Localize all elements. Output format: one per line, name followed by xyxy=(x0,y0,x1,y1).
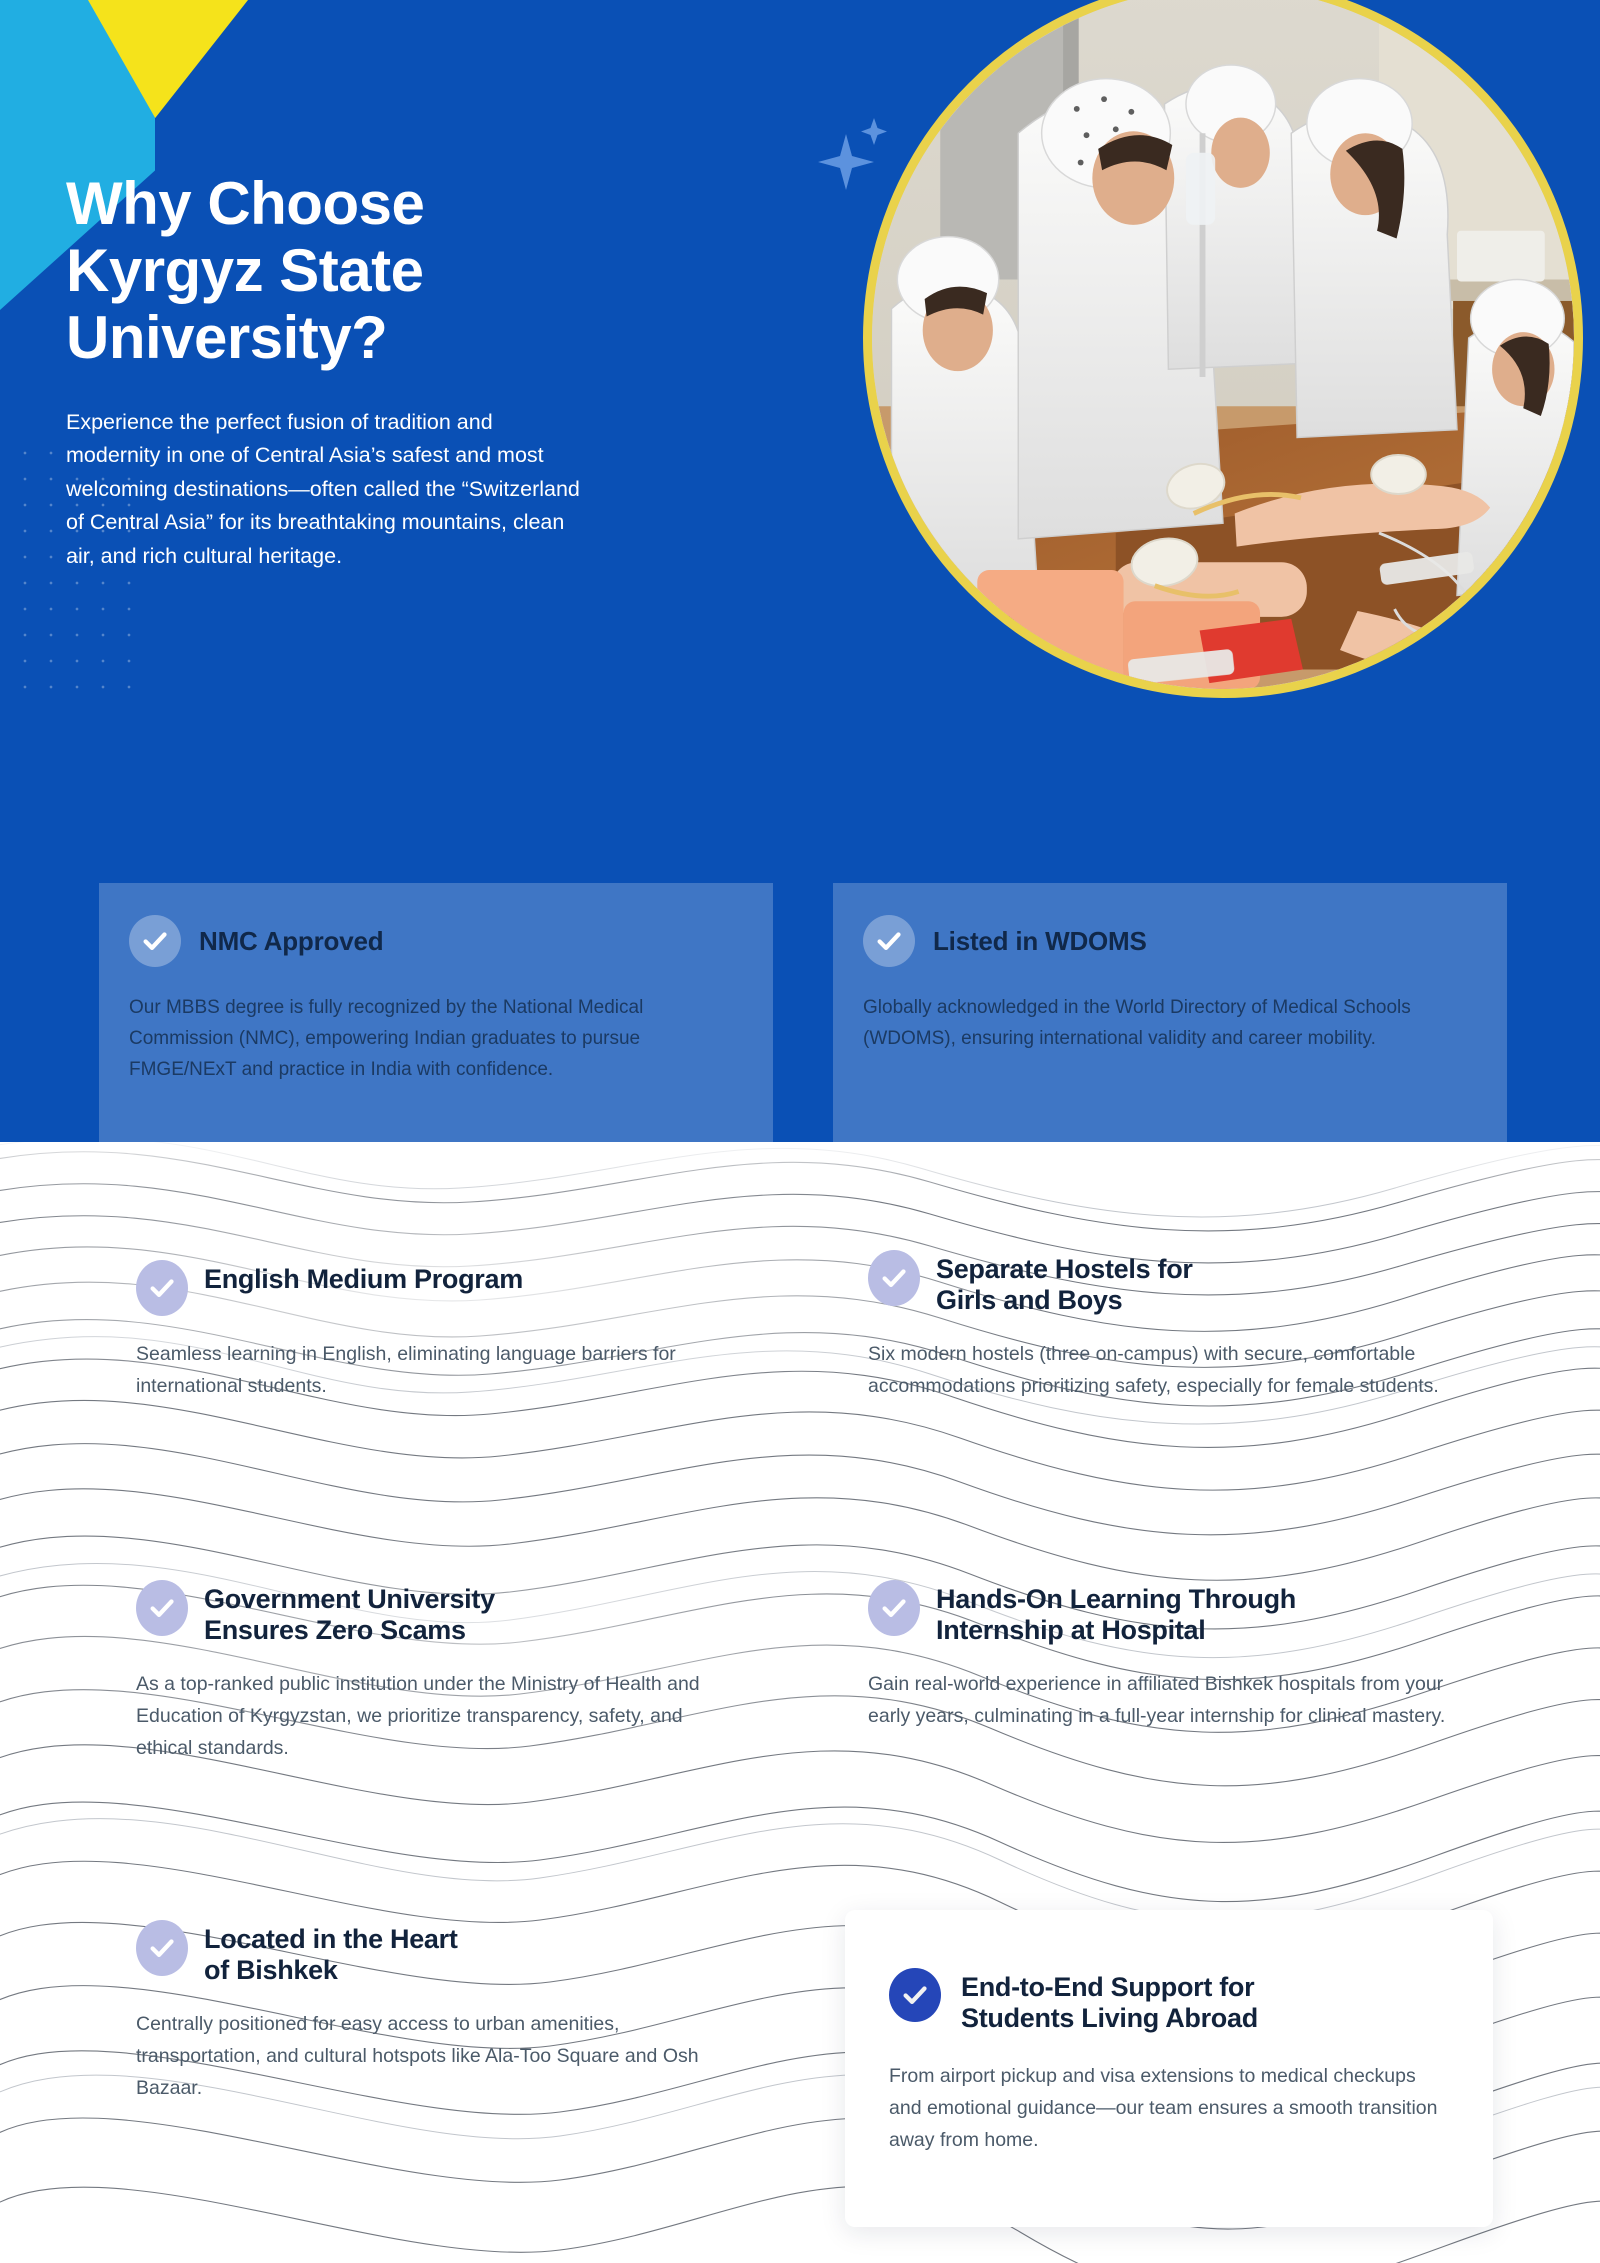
check-circle-icon xyxy=(136,1920,188,1976)
feature-title: Located in the Heart of Bishkek xyxy=(204,1918,458,1986)
highlight-card-nmc: NMC Approved Our MBBS degree is fully re… xyxy=(99,883,773,1142)
feature-header: Government University Ensures Zero Scams xyxy=(136,1578,776,1646)
feature-title: End-to-End Support for Students Living A… xyxy=(961,1966,1258,2034)
page-title: Why Choose Kyrgyz State University? xyxy=(66,170,586,372)
highlight-card-header: Listed in WDOMS xyxy=(863,915,1473,967)
highlight-card-wdoms: Listed in WDOMS Globally acknowledged in… xyxy=(833,883,1507,1142)
feature-title: Hands-On Learning Through Internship at … xyxy=(936,1578,1296,1646)
feature-body: Centrally positioned for easy access to … xyxy=(136,2008,716,2105)
feature-header: End-to-End Support for Students Living A… xyxy=(889,1966,1453,2034)
feature-english-medium: English Medium Program Seamless learning… xyxy=(136,1258,776,1403)
highlight-card-body: Globally acknowledged in the World Direc… xyxy=(863,993,1473,1055)
feature-separate-hostels: Separate Hostels for Girls and Boys Six … xyxy=(868,1248,1508,1402)
feature-body: Six modern hostels (three on-campus) wit… xyxy=(868,1338,1448,1403)
check-circle-icon xyxy=(129,915,181,967)
check-circle-icon xyxy=(136,1260,188,1316)
hero-subtitle: Experience the perfect fusion of traditi… xyxy=(66,406,586,574)
check-circle-icon xyxy=(889,1968,941,2022)
hero-photo xyxy=(863,0,1583,698)
check-circle-icon xyxy=(868,1580,920,1636)
hero-photo-image xyxy=(872,0,1574,689)
feature-government-university: Government University Ensures Zero Scams… xyxy=(136,1578,776,1765)
feature-header: Located in the Heart of Bishkek xyxy=(136,1918,776,1986)
highlight-card-title: NMC Approved xyxy=(199,926,383,957)
feature-title: English Medium Program xyxy=(204,1258,523,1295)
feature-located-bishkek: Located in the Heart of Bishkek Centrall… xyxy=(136,1918,776,2105)
hero-section: Why Choose Kyrgyz State University? Expe… xyxy=(0,0,1600,1142)
check-circle-icon xyxy=(136,1580,188,1636)
feature-title: Government University Ensures Zero Scams xyxy=(204,1578,495,1646)
feature-body: Gain real-world experience in affiliated… xyxy=(868,1668,1448,1733)
feature-hands-on-learning: Hands-On Learning Through Internship at … xyxy=(868,1578,1508,1732)
hero-text-block: Why Choose Kyrgyz State University? Expe… xyxy=(66,170,586,573)
highlight-card-body: Our MBBS degree is fully recognized by t… xyxy=(129,993,739,1085)
check-circle-icon xyxy=(863,915,915,967)
feature-header: Hands-On Learning Through Internship at … xyxy=(868,1578,1508,1646)
feature-body: As a top-ranked public institution under… xyxy=(136,1668,716,1765)
check-circle-icon xyxy=(868,1250,920,1306)
hero-photo-gold-ring xyxy=(863,0,1583,698)
sparkle-icon xyxy=(812,112,902,202)
feature-body: From airport pickup and visa extensions … xyxy=(889,2060,1453,2157)
feature-title: Separate Hostels for Girls and Boys xyxy=(936,1248,1193,1316)
highlight-card-title: Listed in WDOMS xyxy=(933,926,1147,957)
highlight-card-header: NMC Approved xyxy=(129,915,739,967)
feature-end-to-end-support: End-to-End Support for Students Living A… xyxy=(845,1910,1493,2227)
feature-body: Seamless learning in English, eliminatin… xyxy=(136,1338,716,1403)
feature-header: English Medium Program xyxy=(136,1258,776,1316)
feature-header: Separate Hostels for Girls and Boys xyxy=(868,1248,1508,1316)
